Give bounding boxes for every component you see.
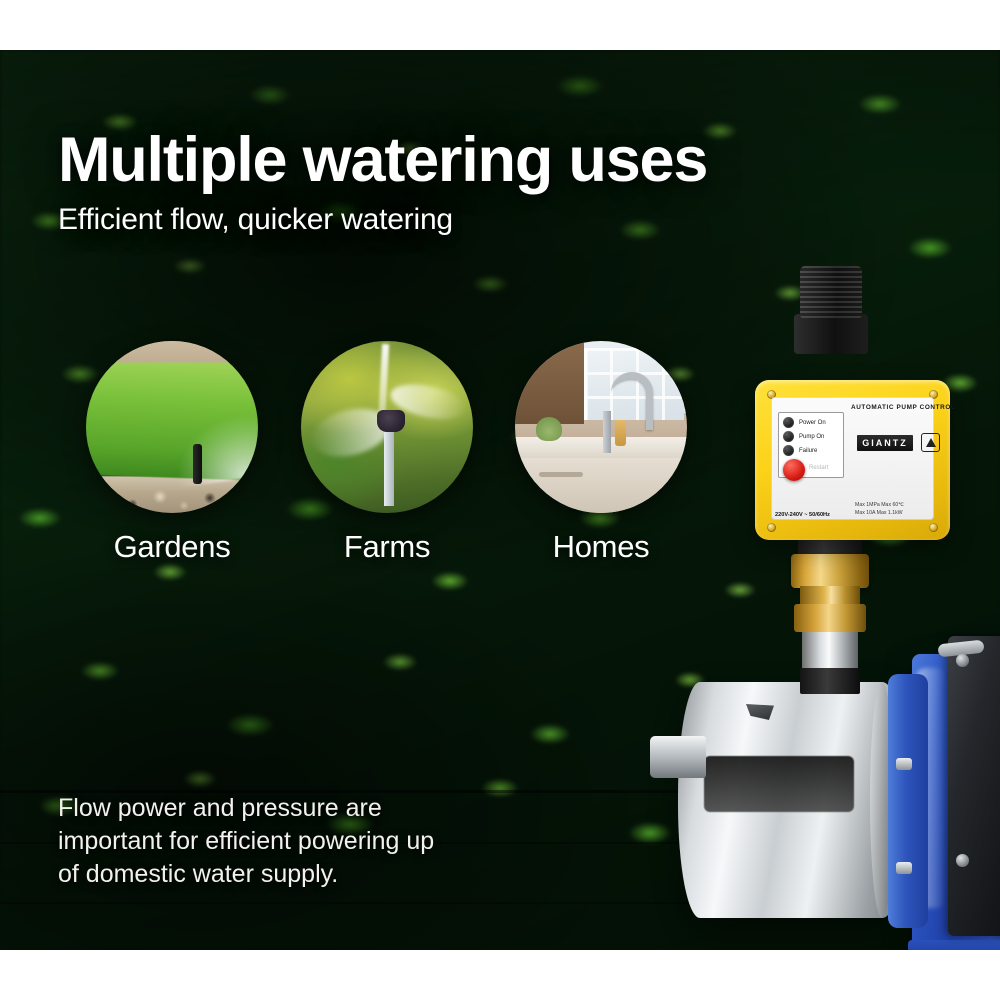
black-terminal-cover	[948, 636, 1000, 936]
indicator-pump-on: Pump On	[783, 431, 824, 442]
feature-item-gardens: Gardens	[86, 341, 258, 565]
motor-flange	[888, 674, 928, 928]
kitchen-wall	[515, 341, 584, 424]
pebble-border	[86, 479, 258, 513]
controller-label: AUTOMATIC PUMP CONTROL Power On Pump On	[771, 397, 934, 520]
motor-base-foot	[908, 940, 1000, 950]
screw-bottom-left	[767, 523, 776, 532]
drawer-handle	[539, 472, 583, 477]
suction-inlet-port	[650, 736, 706, 778]
soap-bottle-icon	[615, 420, 626, 446]
caption-line-2: important for efficient powering up	[58, 825, 488, 858]
controller-title: AUTOMATIC PUMP CONTROL	[851, 404, 955, 411]
housing-tab	[746, 704, 774, 720]
brass-union-nut	[791, 554, 869, 588]
pipe-sleeve	[800, 668, 860, 694]
screw-bottom-right	[929, 523, 938, 532]
cover-screw-top	[956, 654, 969, 667]
product-photo: AUTOMATIC PUMP CONTROL Power On Pump On	[650, 250, 1000, 950]
garden-illustration	[86, 341, 258, 513]
brass-lower-nut	[794, 604, 866, 632]
riser-pipe	[384, 420, 394, 506]
feature-item-farms: Farms	[301, 341, 473, 565]
indicator-label-failure: Failure	[799, 448, 817, 454]
faucet-stem	[603, 411, 611, 453]
black-vent-cap	[800, 266, 862, 318]
restart-label: Restart	[809, 465, 828, 471]
voltage-rating: 220V-240V ~ 50/60Hz	[775, 512, 830, 518]
led-icon-power	[783, 417, 794, 428]
flange-bolt-lower	[896, 862, 912, 874]
cabinet	[515, 458, 687, 513]
restart-button[interactable]	[783, 459, 805, 481]
brand-logo: GIANTZ	[857, 435, 913, 451]
farm-illustration	[301, 341, 473, 513]
stainless-steel-pump-housing	[678, 682, 908, 918]
caption-line-1: Flow power and pressure are	[58, 792, 488, 825]
description-text: Flow power and pressure are important fo…	[58, 792, 488, 891]
cap-base	[794, 314, 868, 354]
brass-mid-section	[800, 586, 860, 606]
led-icon-failure	[783, 445, 794, 456]
indicator-label-pump: Pump On	[799, 434, 824, 440]
indicator-power-on: Power On	[783, 417, 826, 428]
feature-label-gardens: Gardens	[86, 529, 258, 565]
rotor-head-icon	[377, 410, 405, 432]
brand-text: GIANTZ	[862, 438, 908, 448]
flange-bolt-upper	[896, 758, 912, 770]
field-sprinkler-photo	[301, 341, 473, 513]
product-banner: Multiple watering uses Efficient flow, q…	[0, 0, 1000, 1000]
spec-line-1: Max 1MPa Max 60℃	[855, 502, 904, 508]
indicator-failure: Failure	[783, 445, 817, 456]
caption-line-3: of domestic water supply.	[58, 858, 488, 891]
indicator-panel: Power On Pump On Failure Restart	[778, 412, 844, 478]
pressure-controller: AUTOMATIC PUMP CONTROL Power On Pump On	[755, 380, 950, 540]
potted-plant-icon	[536, 417, 562, 441]
feature-label-farms: Farms	[301, 529, 473, 565]
indicator-label-power: Power On	[799, 420, 826, 426]
sprinkler-head-icon	[193, 444, 202, 484]
housing-dark-band	[704, 756, 854, 812]
scene: Multiple watering uses Efficient flow, q…	[0, 50, 1000, 950]
countertop	[515, 437, 687, 458]
lawn-sprinkler-photo	[86, 341, 258, 513]
led-icon-pump	[783, 431, 794, 442]
spec-line-2: Max 10A Max 1.1kW	[855, 510, 903, 516]
compliance-mark-icon	[921, 433, 940, 452]
cover-screw-bottom	[956, 854, 969, 867]
